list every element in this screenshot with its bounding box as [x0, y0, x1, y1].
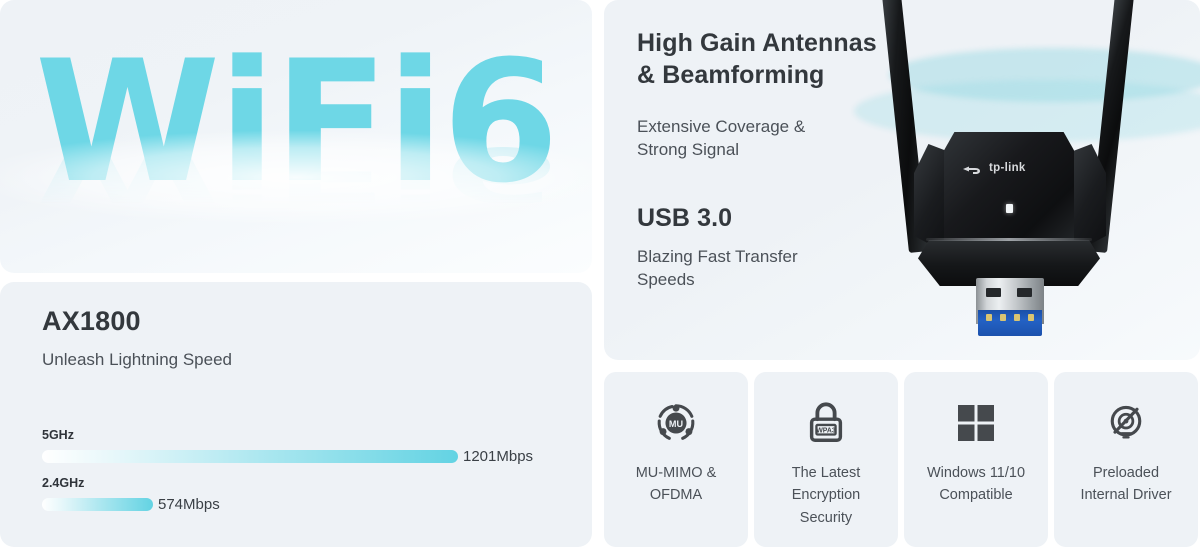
wifi6-logo-reflection: WiFi6: [0, 136, 592, 212]
feature-card-label: MU-MIMO &OFDMA: [628, 462, 725, 507]
band-row-24ghz: 2.4GHz 574Mbps: [42, 476, 220, 513]
band-label-5ghz: 5GHz: [42, 428, 533, 442]
wifi6-hero-panel: WiFi6 WiFi6: [0, 0, 592, 273]
adapter-body: [944, 132, 1074, 247]
band-bar-24ghz: [42, 498, 153, 511]
usb-heading: USB 3.0: [637, 202, 732, 234]
band-value-24ghz: 574Mbps: [158, 496, 220, 513]
product-feature-banner: WiFi6 WiFi6 AX1800 Unleash Lightning Spe…: [0, 0, 1200, 547]
adapter-base-highlight: [926, 238, 1092, 241]
led-indicator: [1006, 204, 1013, 213]
band-bar-row-5ghz: 1201Mbps: [42, 448, 533, 465]
usb-pin-1: [986, 314, 992, 321]
tp-link-logo: tp-link: [962, 160, 1060, 176]
feature-card-wpa3[interactable]: WPA3 The LatestEncryptionSecurity: [754, 372, 898, 547]
usb-slot-left: [986, 288, 1001, 297]
windows-icon: [956, 400, 996, 446]
mu-mimo-icon: MU: [653, 400, 699, 446]
antenna-usb-panel: tp-link High Gain Antennas& Beamforming …: [604, 0, 1200, 360]
no-disc-icon: [1104, 400, 1148, 446]
usb-pin-3: [1014, 314, 1020, 321]
usb3-blue-insert: [978, 310, 1042, 336]
usb-slot-right: [1017, 288, 1032, 297]
antenna-subheading: Extensive Coverage &Strong Signal: [637, 116, 897, 162]
antenna-heading: High Gain Antennas& Beamforming: [637, 27, 937, 91]
band-value-5ghz: 1201Mbps: [463, 448, 533, 465]
band-bar-5ghz: [42, 450, 458, 463]
svg-text:MU: MU: [669, 419, 684, 429]
ax1800-subtitle: Unleash Lightning Speed: [42, 350, 232, 370]
usb-subheading: Blazing Fast TransferSpeeds: [637, 246, 887, 292]
feature-card-label: Windows 11/10Compatible: [919, 462, 1033, 507]
wpa3-lock-icon: WPA3: [806, 400, 846, 446]
ax1800-speed-panel: AX1800 Unleash Lightning Speed 5GHz 1201…: [0, 282, 592, 547]
band-label-24ghz: 2.4GHz: [42, 476, 220, 490]
band-bar-row-24ghz: 574Mbps: [42, 496, 220, 513]
band-row-5ghz: 5GHz 1201Mbps: [42, 428, 533, 465]
tp-link-wordmark: tp-link: [989, 162, 1026, 174]
usb-pin-2: [1000, 314, 1006, 321]
wifi6-logo-group: WiFi6 WiFi6: [0, 0, 592, 273]
feature-card-windows[interactable]: Windows 11/10Compatible: [904, 372, 1048, 547]
feature-card-mu-mimo[interactable]: MU MU-MIMO &OFDMA: [604, 372, 748, 547]
feature-card-label: The LatestEncryptionSecurity: [784, 462, 869, 529]
feature-card-no-disc[interactable]: PreloadedInternal Driver: [1054, 372, 1198, 547]
usb-pin-4: [1028, 314, 1034, 321]
svg-text:WPA3: WPA3: [816, 427, 836, 434]
feature-card-label: PreloadedInternal Driver: [1072, 462, 1179, 507]
ax1800-title: AX1800: [42, 306, 141, 337]
tp-link-mark-icon: [962, 162, 984, 175]
